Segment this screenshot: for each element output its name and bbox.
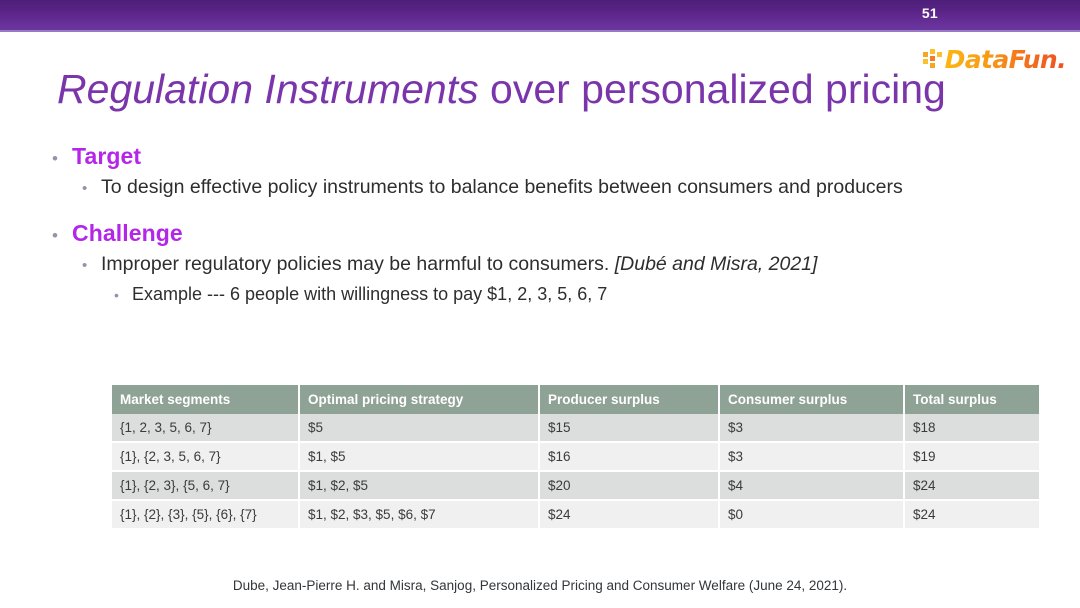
cell-optimal-pricing: $1, $2, $5 <box>299 471 539 500</box>
column-header-producer-surplus: Producer surplus <box>539 385 719 414</box>
cell-producer-surplus: $15 <box>539 414 719 442</box>
top-band-underline <box>0 30 1080 32</box>
bullet-challenge-detail-text: Improper regulatory policies may be harm… <box>101 252 817 278</box>
column-header-consumer-surplus: Consumer surplus <box>719 385 904 414</box>
bullet-target-detail-text: To design effective policy instruments t… <box>101 175 903 201</box>
cell-optimal-pricing: $5 <box>299 414 539 442</box>
cell-producer-surplus: $16 <box>539 442 719 471</box>
bullet-example: • Example --- 6 people with willingness … <box>114 283 1012 307</box>
page-number: 51 <box>922 5 938 21</box>
page-title-rest: over personalized pricing <box>479 66 946 112</box>
page-title: Regulation Instruments over personalized… <box>57 65 946 113</box>
bullet-dot-icon: • <box>82 252 101 273</box>
column-header-market-segments: Market segments <box>112 385 299 414</box>
bullet-dot-icon: • <box>114 283 132 302</box>
page-title-emphasis: Regulation Instruments <box>57 66 479 112</box>
cell-market-segments: {1, 2, 3, 5, 6, 7} <box>112 414 299 442</box>
table-row: {1}, {2, 3, 5, 6, 7} $1, $5 $16 $3 $19 <box>112 442 1039 471</box>
cell-producer-surplus: $24 <box>539 500 719 528</box>
slide-canvas: 51 DataFun. Regulation Instruments over … <box>0 0 1080 608</box>
cell-optimal-pricing: $1, $5 <box>299 442 539 471</box>
source-footnote: Dube, Jean-Pierre H. and Misra, Sanjog, … <box>0 578 1080 593</box>
bullet-challenge-detail: • Improper regulatory policies may be ha… <box>82 252 1012 278</box>
top-purple-band <box>0 0 1080 30</box>
cell-total-surplus: $18 <box>904 414 1039 442</box>
bullet-target-detail: • To design effective policy instruments… <box>82 175 1012 201</box>
cell-market-segments: {1}, {2, 3}, {5, 6, 7} <box>112 471 299 500</box>
bullet-target-label: Target <box>72 143 141 170</box>
cell-market-segments: {1}, {2}, {3}, {5}, {6}, {7} <box>112 500 299 528</box>
challenge-sentence: Improper regulatory policies may be harm… <box>101 253 615 275</box>
bullet-challenge: • Challenge <box>52 220 1012 247</box>
table-header-row: Market segments Optimal pricing strategy… <box>112 385 1039 414</box>
cell-consumer-surplus: $4 <box>719 471 904 500</box>
cell-optimal-pricing: $1, $2, $3, $5, $6, $7 <box>299 500 539 528</box>
table-body: {1, 2, 3, 5, 6, 7} $5 $15 $3 $18 {1}, {2… <box>112 414 1039 528</box>
bullet-challenge-label: Challenge <box>72 220 183 247</box>
column-header-optimal-pricing: Optimal pricing strategy <box>299 385 539 414</box>
cell-consumer-surplus: $3 <box>719 414 904 442</box>
challenge-citation: [Dubé and Misra, 2021] <box>615 253 818 275</box>
bullet-dot-icon: • <box>52 220 72 244</box>
column-header-total-surplus: Total surplus <box>904 385 1039 414</box>
bullet-example-text: Example --- 6 people with willingness to… <box>132 283 607 307</box>
table-row: {1}, {2}, {3}, {5}, {6}, {7} $1, $2, $3,… <box>112 500 1039 528</box>
cell-total-surplus: $24 <box>904 471 1039 500</box>
cell-total-surplus: $24 <box>904 500 1039 528</box>
cell-total-surplus: $19 <box>904 442 1039 471</box>
bullet-dot-icon: • <box>52 143 72 167</box>
surplus-table: Market segments Optimal pricing strategy… <box>112 385 991 528</box>
cell-producer-surplus: $20 <box>539 471 719 500</box>
table-row: {1}, {2, 3}, {5, 6, 7} $1, $2, $5 $20 $4… <box>112 471 1039 500</box>
table-head: Market segments Optimal pricing strategy… <box>112 385 1039 414</box>
slide-body: • Target • To design effective policy in… <box>52 143 1012 309</box>
table-row: {1, 2, 3, 5, 6, 7} $5 $15 $3 $18 <box>112 414 1039 442</box>
bullet-target: • Target <box>52 143 1012 170</box>
bullet-dot-icon: • <box>82 175 101 196</box>
cell-consumer-surplus: $0 <box>719 500 904 528</box>
cell-market-segments: {1}, {2, 3, 5, 6, 7} <box>112 442 299 471</box>
cell-consumer-surplus: $3 <box>719 442 904 471</box>
surplus-table-element: Market segments Optimal pricing strategy… <box>112 385 1039 528</box>
logo-wordmark: DataFun. <box>945 45 1066 74</box>
